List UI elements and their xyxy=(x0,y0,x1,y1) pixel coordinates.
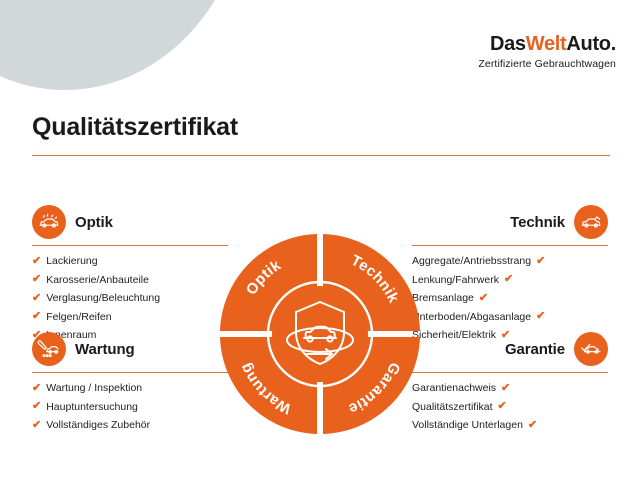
car-engine-icon xyxy=(574,205,608,239)
check-icon: ✔ xyxy=(536,256,545,267)
section-technik-list: ✔Aggregate/Antriebsstrang ✔Lenkung/Fahrw… xyxy=(412,255,608,341)
section-technik: Technik ✔Aggregate/Antriebsstrang ✔Lenku… xyxy=(412,205,608,348)
check-icon: ✔ xyxy=(32,293,41,304)
brand-tagline: Zertifizierte Gebrauchtwagen xyxy=(478,59,616,70)
section-garantie-heading: Garantie xyxy=(505,341,565,358)
page-title-divider xyxy=(32,155,610,156)
section-optik-divider xyxy=(32,245,228,246)
check-icon: ✔ xyxy=(32,401,41,412)
list-item-label: Lackierung xyxy=(46,255,97,267)
section-technik-header: Technik xyxy=(412,205,608,239)
list-item: ✔Lackierung xyxy=(32,255,228,267)
section-garantie-divider xyxy=(412,372,608,373)
check-icon: ✔ xyxy=(498,401,507,412)
check-icon: ✔ xyxy=(32,420,41,431)
list-item: ✔Wartung / Inspektion xyxy=(32,382,228,394)
check-icon: ✔ xyxy=(32,311,41,322)
section-optik: Optik ✔Lackierung ✔Karosserie/Anbauteile… xyxy=(32,205,228,348)
list-item: ✔Vollständige Unterlagen xyxy=(412,419,608,431)
list-item: ✔Felgen/Reifen xyxy=(32,311,228,323)
list-item-label: Felgen/Reifen xyxy=(46,311,111,323)
brand-logo-wordmark: DasWeltAuto. xyxy=(478,34,616,54)
list-item: ✔Hauptuntersuchung xyxy=(32,401,228,413)
car-sparkle-icon xyxy=(32,205,66,239)
section-wartung-heading: Wartung xyxy=(75,341,135,358)
list-item-label: Hauptuntersuchung xyxy=(46,401,138,413)
check-icon: ✔ xyxy=(501,383,510,394)
list-item-label: Verglasung/Beleuchtung xyxy=(46,292,160,304)
brand-logo: DasWeltAuto. Zertifizierte Gebrauchtwage… xyxy=(478,34,616,70)
logo-das: Das xyxy=(490,33,526,55)
list-item-label: Lenkung/Fahrwerk xyxy=(412,274,499,286)
section-optik-heading: Optik xyxy=(75,214,113,231)
list-item: ✔Lenkung/Fahrwerk xyxy=(412,274,608,286)
section-wartung-divider xyxy=(32,372,228,373)
car-check-icon xyxy=(574,332,608,366)
check-icon: ✔ xyxy=(32,274,41,285)
list-item-label: Garantienachweis xyxy=(412,382,496,394)
check-icon: ✔ xyxy=(32,256,41,267)
list-item: ✔Karosserie/Anbauteile xyxy=(32,274,228,286)
list-item-label: Unterboden/Abgasanlage xyxy=(412,311,531,323)
section-wartung-list: ✔Wartung / Inspektion ✔Hauptuntersuchung… xyxy=(32,382,228,431)
list-item-label: Vollständiges Zubehör xyxy=(46,419,150,431)
check-icon: ✔ xyxy=(536,311,545,322)
section-garantie-header: Garantie xyxy=(412,332,608,366)
section-garantie-list: ✔Garantienachweis ✔Qualitätszertifikat ✔… xyxy=(412,382,608,431)
quadrant-donut-diagram: Optik Technik Garantie Wartung xyxy=(218,232,422,436)
certificate-page: DasWeltAuto. Zertifizierte Gebrauchtwage… xyxy=(0,0,640,480)
page-title: Qualitätszertifikat xyxy=(32,113,238,142)
list-item: ✔Qualitätszertifikat xyxy=(412,401,608,413)
section-wartung-header: Wartung xyxy=(32,332,228,366)
list-item: ✔Unterboden/Abgasanlage xyxy=(412,311,608,323)
car-wrench-icon xyxy=(32,332,66,366)
header-decor-shape xyxy=(0,0,250,90)
logo-auto: Auto. xyxy=(566,33,616,55)
check-icon: ✔ xyxy=(32,383,41,394)
list-item: ✔Garantienachweis xyxy=(412,382,608,394)
section-garantie: Garantie ✔Garantienachweis ✔Qualitätszer… xyxy=(412,332,608,438)
list-item: ✔Verglasung/Beleuchtung xyxy=(32,292,228,304)
list-item-label: Qualitätszertifikat xyxy=(412,401,493,413)
logo-welt: Welt xyxy=(526,33,567,55)
section-technik-divider xyxy=(412,245,608,246)
list-item-label: Aggregate/Antriebsstrang xyxy=(412,255,531,267)
list-item-label: Vollständige Unterlagen xyxy=(412,419,523,431)
donut-center-disc xyxy=(272,286,368,382)
section-technik-heading: Technik xyxy=(510,214,565,231)
section-wartung: Wartung ✔Wartung / Inspektion ✔Hauptunte… xyxy=(32,332,228,438)
list-item-label: Wartung / Inspektion xyxy=(46,382,142,394)
check-icon: ✔ xyxy=(528,420,537,431)
list-item: ✔Bremsanlage xyxy=(412,292,608,304)
section-optik-list: ✔Lackierung ✔Karosserie/Anbauteile ✔Verg… xyxy=(32,255,228,341)
check-icon: ✔ xyxy=(479,293,488,304)
check-icon: ✔ xyxy=(504,274,513,285)
list-item: ✔Vollständiges Zubehör xyxy=(32,419,228,431)
list-item-label: Karosserie/Anbauteile xyxy=(46,274,149,286)
list-item: ✔Aggregate/Antriebsstrang xyxy=(412,255,608,267)
section-optik-header: Optik xyxy=(32,205,228,239)
